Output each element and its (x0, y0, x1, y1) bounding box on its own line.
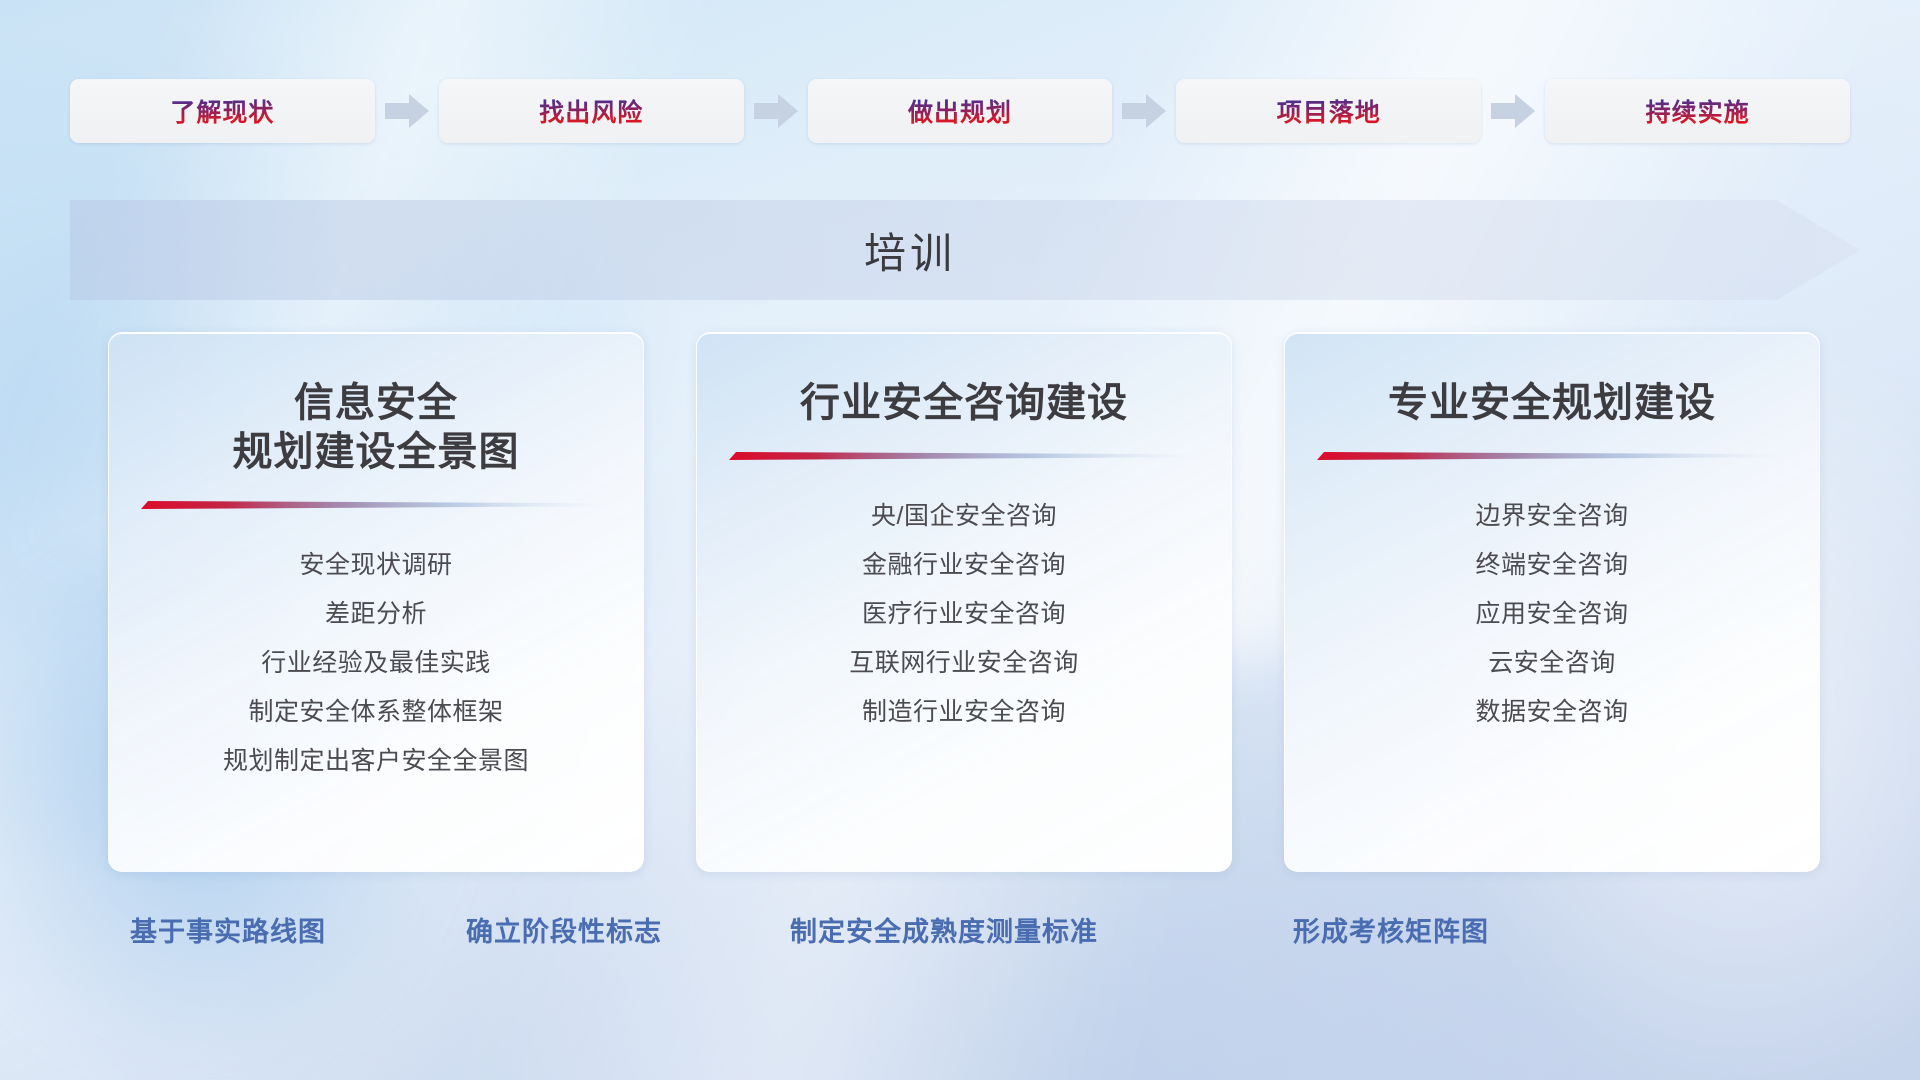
service-card-body: 信息安全 规划建设全景图 安全现状调研差距分析行业经验及最佳实践制定安全体系整体… (109, 333, 643, 871)
process-step-4[interactable]: 项目落地 (1176, 79, 1481, 143)
service-card-list-item[interactable]: 终端安全咨询 (1475, 541, 1628, 590)
service-card-list-item[interactable]: 规划制定出客户安全全景图 (223, 737, 529, 786)
service-card-1[interactable]: 信息安全 规划建设全景图 安全现状调研差距分析行业经验及最佳实践制定安全体系整体… (108, 332, 644, 872)
slide-canvas: 了解现状 找出风险 做出规划 项目落地 持续实施 (0, 0, 1920, 1080)
arrow-right-icon (1488, 93, 1538, 129)
banner-title: 培训 (70, 200, 1750, 300)
service-card-list-item[interactable]: 数据安全咨询 (1475, 688, 1628, 737)
service-card-list: 边界安全咨询终端安全咨询应用安全咨询云安全咨询数据安全咨询 (1285, 492, 1819, 737)
arrow-right-icon (382, 93, 432, 129)
service-card-divider (1317, 450, 1787, 462)
arrow-right-icon (1119, 93, 1169, 129)
process-step-5[interactable]: 持续实施 (1545, 79, 1850, 143)
outcome-label-4: 形成考核矩阵图 (1293, 910, 1489, 949)
process-step-label: 做出规划 (908, 93, 1012, 129)
service-card-list: 安全现状调研差距分析行业经验及最佳实践制定安全体系整体框架规划制定出客户安全全景… (109, 541, 643, 786)
process-step-label: 持续实施 (1646, 93, 1750, 129)
service-card-list-item[interactable]: 云安全咨询 (1488, 639, 1616, 688)
service-card-body: 行业安全咨询建设 央/国企安全咨询金融行业安全咨询医疗行业安全咨询互联网行业安全… (697, 333, 1231, 871)
process-step-2[interactable]: 找出风险 (439, 79, 744, 143)
service-card-divider (729, 450, 1199, 462)
service-card-list-item[interactable]: 医疗行业安全咨询 (862, 590, 1066, 639)
service-card-title: 信息安全 规划建设全景图 (233, 379, 520, 477)
service-card-title: 专业安全规划建设 (1388, 379, 1716, 428)
outcome-label-1: 基于事实路线图 (130, 910, 326, 949)
service-card-list-item[interactable]: 央/国企安全咨询 (871, 492, 1057, 541)
service-card-list-item[interactable]: 金融行业安全咨询 (862, 541, 1066, 590)
outcome-label-2: 确立阶段性标志 (466, 910, 662, 949)
service-card-2[interactable]: 行业安全咨询建设 央/国企安全咨询金融行业安全咨询医疗行业安全咨询互联网行业安全… (696, 332, 1232, 872)
service-card-list-item[interactable]: 行业经验及最佳实践 (261, 639, 491, 688)
service-card-body: 专业安全规划建设 边界安全咨询终端安全咨询应用安全咨询云安全咨询数据安全咨询 (1285, 333, 1819, 871)
bottom-label-group: 基于事实路线图确立阶段性标志制定安全成熟度测量标准形成考核矩阵图 (0, 910, 1920, 958)
training-banner: 培训 (70, 200, 1860, 300)
service-card-list-item[interactable]: 应用安全咨询 (1475, 590, 1628, 639)
process-step-bar: 了解现状 找出风险 做出规划 项目落地 持续实施 (70, 79, 1850, 143)
arrow-right-icon (751, 93, 801, 129)
card-group: 信息安全 规划建设全景图 安全现状调研差距分析行业经验及最佳实践制定安全体系整体… (108, 332, 1820, 872)
service-card-list-item[interactable]: 制定安全体系整体框架 (248, 688, 503, 737)
process-step-label: 了解现状 (170, 93, 274, 129)
process-step-1[interactable]: 了解现状 (70, 79, 375, 143)
service-card-divider (141, 499, 611, 511)
service-card-title: 行业安全咨询建设 (800, 379, 1128, 428)
service-card-list-item[interactable]: 互联网行业安全咨询 (849, 639, 1079, 688)
service-card-list-item[interactable]: 安全现状调研 (299, 541, 452, 590)
service-card-list-item[interactable]: 制造行业安全咨询 (862, 688, 1066, 737)
process-step-3[interactable]: 做出规划 (808, 79, 1113, 143)
service-card-list: 央/国企安全咨询金融行业安全咨询医疗行业安全咨询互联网行业安全咨询制造行业安全咨… (697, 492, 1231, 737)
outcome-label-3: 制定安全成熟度测量标准 (790, 910, 1098, 949)
service-card-3[interactable]: 专业安全规划建设 边界安全咨询终端安全咨询应用安全咨询云安全咨询数据安全咨询 (1284, 332, 1820, 872)
service-card-list-item[interactable]: 差距分析 (325, 590, 427, 639)
process-step-label: 找出风险 (539, 93, 643, 129)
process-step-label: 项目落地 (1277, 93, 1381, 129)
service-card-list-item[interactable]: 边界安全咨询 (1475, 492, 1628, 541)
